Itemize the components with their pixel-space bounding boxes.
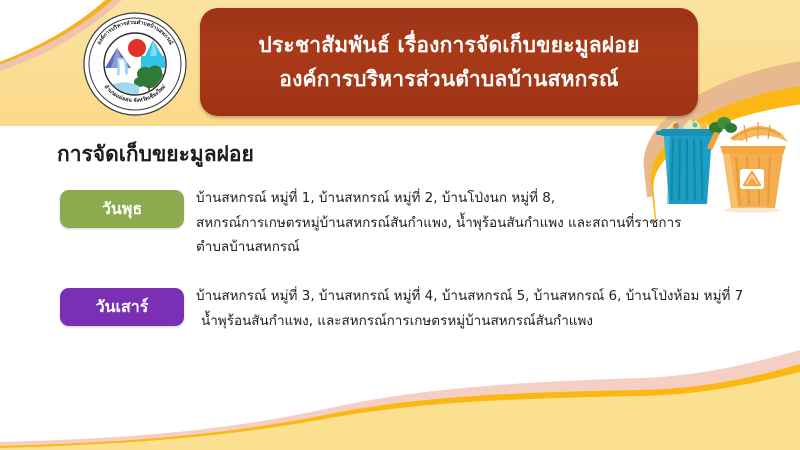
sat-line-1: บ้านสหกรณ์ หมู่ที่ 3, บ้านสหกรณ์ หมู่ที่… [196, 284, 762, 309]
day-badge-wednesday: วันพุธ [60, 190, 184, 228]
schedule-row-saturday: วันเสาร์ [60, 288, 184, 326]
day-badge-saturday: วันเสาร์ [60, 288, 184, 326]
bottom-wave-pink [0, 338, 800, 450]
wed-line-3: ตำบลบ้านสหกรณ์ [196, 235, 736, 260]
organization-emblem: องค์การบริหารส่วนตำบลบ้านสหกรณ์ อำเภอแม่… [83, 12, 187, 116]
wed-line-2: สหกรณ์การเกษตรหมู่บ้านสหกรณ์สันกำแพง, น้… [196, 211, 736, 236]
schedule-text-saturday: บ้านสหกรณ์ หมู่ที่ 3, บ้านสหกรณ์ หมู่ที่… [196, 284, 762, 333]
page-title: การจัดเก็บขยะมูลฝอย [57, 138, 254, 171]
schedule-text-wednesday: บ้านสหกรณ์ หมู่ที่ 1, บ้านสหกรณ์ หมู่ที่… [196, 186, 736, 260]
wed-line-1: บ้านสหกรณ์ หมู่ที่ 1, บ้านสหกรณ์ หมู่ที่… [196, 186, 736, 211]
banner-title-line-2: องค์การบริหารส่วนตำบลบ้านสหกรณ์ [279, 62, 618, 96]
schedule-row-wednesday: วันพุธ [60, 190, 184, 228]
slide-canvas: องค์การบริหารส่วนตำบลบ้านสหกรณ์ อำเภอแม่… [0, 0, 800, 450]
sat-line-2: น้ำพุร้อนสันกำแพง, และสหกรณ์การเกษตรหมู่… [196, 309, 762, 334]
bottom-wave-yellow [0, 364, 800, 450]
banner-title-line-1: ประชาสัมพันธ์ เรื่องการจัดเก็บขยะมูลฝอย [258, 28, 639, 62]
bottom-wave-gold [0, 356, 800, 450]
title-banner: ประชาสัมพันธ์ เรื่องการจัดเก็บขยะมูลฝอย … [200, 8, 698, 116]
